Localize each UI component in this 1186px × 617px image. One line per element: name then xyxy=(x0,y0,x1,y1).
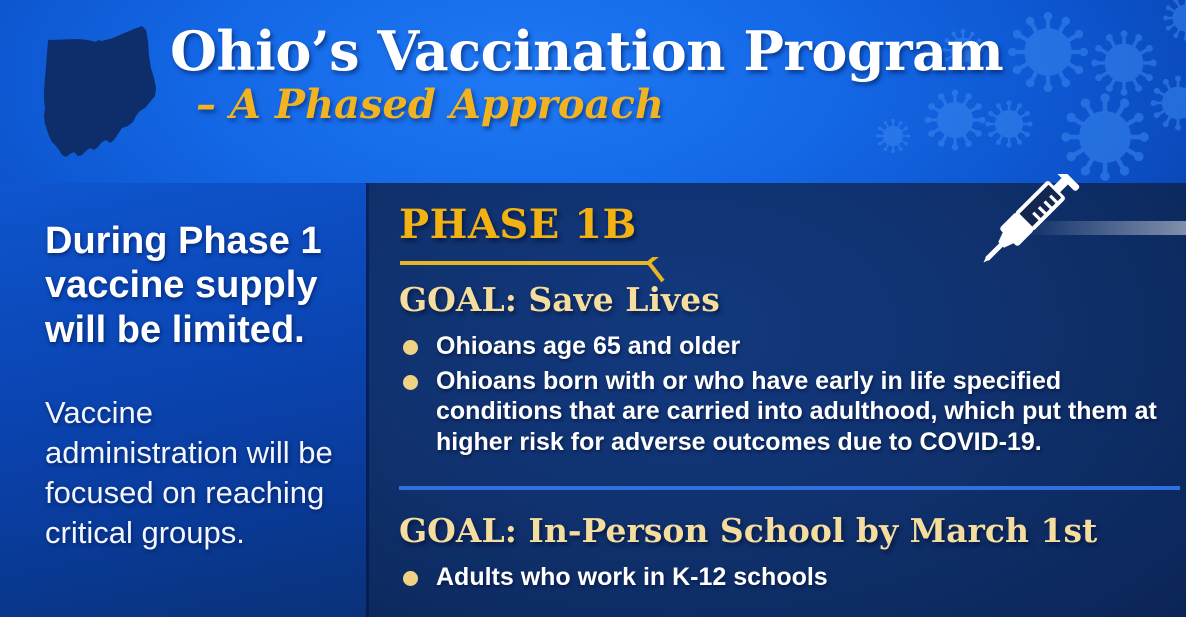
infographic-poster: Ohio’s Vaccination Program – A Phased Ap… xyxy=(0,0,1186,617)
goal-heading-2: GOAL: In-Person School by March 1st xyxy=(399,514,1097,549)
list-item: Adults who work in K-12 schools xyxy=(399,562,1159,593)
bullet-dot-icon xyxy=(403,571,418,586)
list-item-label: Ohioans born with or who have early in l… xyxy=(436,367,1157,456)
phase-detail-panel: PHASE 1B GOAL: Save Lives Ohioans age 65… xyxy=(369,183,1186,617)
bullet-dot-icon xyxy=(403,340,418,355)
page-title: Ohio’s Vaccination Program xyxy=(170,24,1120,79)
ohio-state-map-icon xyxy=(18,16,168,179)
syringe-icon xyxy=(982,174,1092,279)
title-block: Ohio’s Vaccination Program – A Phased Ap… xyxy=(170,24,1120,127)
phase-label: PHASE 1B xyxy=(399,205,637,245)
left-info-panel: During Phase 1 vaccine supply will be li… xyxy=(0,183,366,617)
list-item: Ohioans born with or who have early in l… xyxy=(399,366,1159,458)
bullet-list-2: Adults who work in K-12 schools xyxy=(399,562,1159,597)
right-arrow-progress-icon xyxy=(1024,203,1186,255)
page-subtitle: – A Phased Approach xyxy=(170,83,1120,127)
poster-header: Ohio’s Vaccination Program – A Phased Ap… xyxy=(0,0,1186,183)
administration-paragraph: Vaccine administration will be focused o… xyxy=(45,393,345,553)
goal-heading-1: GOAL: Save Lives xyxy=(399,283,720,318)
bullet-dot-icon xyxy=(403,375,418,390)
list-item-label: Ohioans age 65 and older xyxy=(436,332,740,360)
list-item-label: Adults who work in K-12 schools xyxy=(436,563,828,591)
section-divider xyxy=(399,486,1180,490)
poster-body: During Phase 1 vaccine supply will be li… xyxy=(0,183,1186,617)
list-item: Ohioans age 65 and older xyxy=(399,331,1159,362)
supply-heading: During Phase 1 vaccine supply will be li… xyxy=(45,219,355,352)
bullet-list-1: Ohioans age 65 and older Ohioans born wi… xyxy=(399,331,1159,461)
